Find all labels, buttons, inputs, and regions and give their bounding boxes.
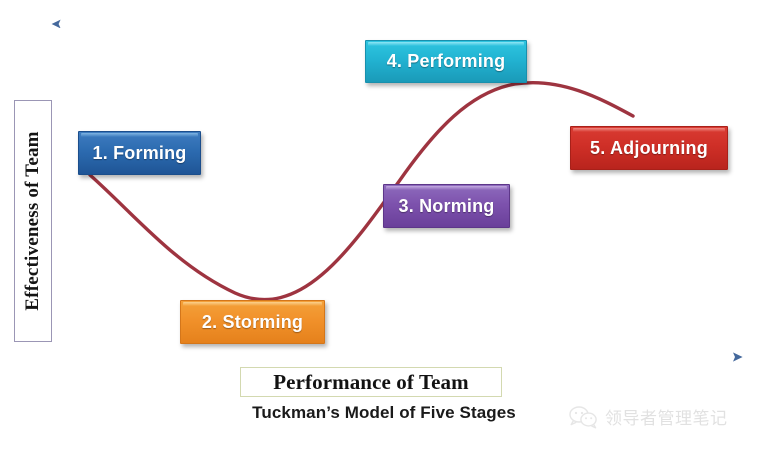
stage-label-performing: 4. Performing xyxy=(387,51,506,72)
watermark: 领导者管理笔记 xyxy=(568,404,728,429)
stage-box-norming[interactable]: 3. Norming xyxy=(383,184,510,228)
stage-highlight xyxy=(368,42,524,46)
y-axis-label-text: Effectiveness of Team xyxy=(22,131,44,310)
stage-box-storming[interactable]: 2. Storming xyxy=(180,300,325,344)
performance-curve xyxy=(90,83,633,300)
stage-highlight xyxy=(81,133,198,137)
x-axis-label: Performance of Team xyxy=(240,367,502,397)
stage-label-norming: 3. Norming xyxy=(398,196,494,217)
y-axis-label: Effectiveness of Team xyxy=(14,100,52,342)
tuckman-model-diagram: Effectiveness of Team 1. Forming 2. Stor… xyxy=(0,0,768,451)
x-axis-label-text: Performance of Team xyxy=(273,370,469,395)
stage-box-performing[interactable]: 4. Performing xyxy=(365,40,527,83)
wechat-bubbles-icon xyxy=(568,405,598,429)
watermark-text: 领导者管理笔记 xyxy=(605,404,728,429)
stage-box-forming[interactable]: 1. Forming xyxy=(78,131,201,175)
stage-highlight xyxy=(183,302,322,306)
stage-highlight xyxy=(386,186,507,190)
stage-highlight xyxy=(573,128,725,132)
stage-label-storming: 2. Storming xyxy=(202,312,303,333)
stage-label-forming: 1. Forming xyxy=(92,143,186,164)
stage-box-adjourning[interactable]: 5. Adjourning xyxy=(570,126,728,170)
stage-label-adjourning: 5. Adjourning xyxy=(590,138,708,159)
